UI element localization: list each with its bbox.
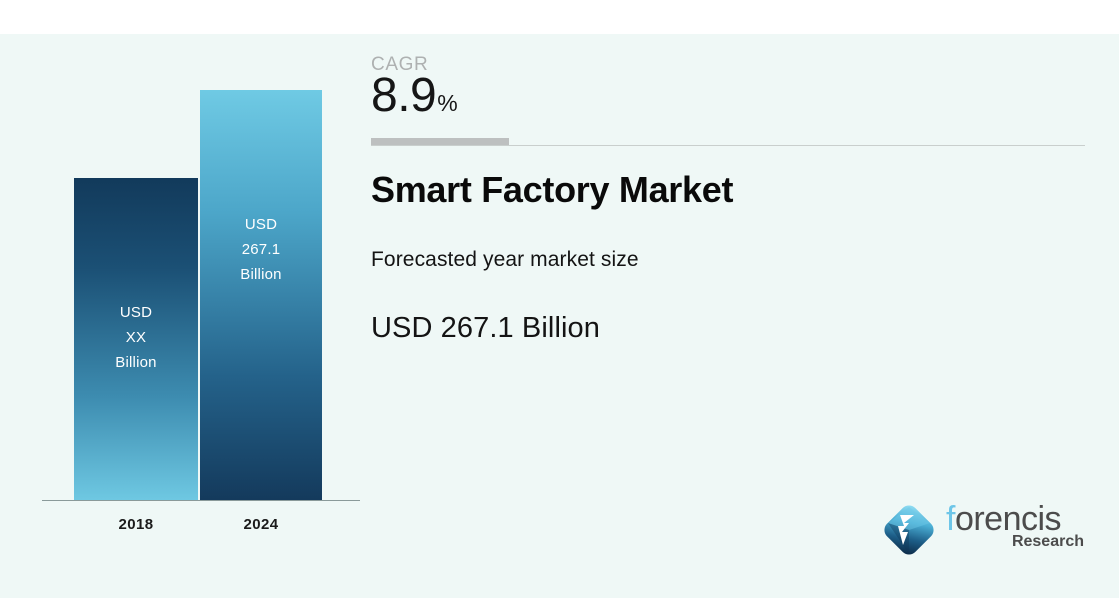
cagr-percent-symbol: % [437,92,457,115]
bar-2018[interactable]: USD XX Billion [74,178,198,500]
divider-accent-bar [371,138,509,145]
forencis-word-f: f [946,500,955,538]
x-axis-line [42,500,360,501]
bar-2024-label-line-3: Billion [200,262,322,287]
bar-chart: USD XX Billion USD 267.1 Billion 2018 20… [0,0,370,564]
forencis-diamond-icon [878,499,940,561]
bar-2018-label: USD XX Billion [74,300,198,375]
bar-2018-label-line-2: XX [74,325,198,350]
forencis-word: forencis [946,501,1086,537]
bar-2024-label-line-2: 267.1 [200,237,322,262]
cagr-value: 8.9 [371,72,436,120]
cagr-value-group: 8.9 % [371,72,458,120]
infographic-canvas: USD XX Billion USD 267.1 Billion 2018 20… [0,0,1119,598]
bar-2024-label: USD 267.1 Billion [200,212,322,287]
bar-2024[interactable]: USD 267.1 Billion [200,90,322,500]
bar-2018-label-line-3: Billion [74,350,198,375]
forecast-label: Forecasted year market size [371,248,639,272]
details-panel: CAGR 8.9 % Smart Factory Market Forecast… [371,0,1101,564]
bar-2018-label-line-1: USD [74,300,198,325]
forencis-research-logo[interactable]: forencis Research [878,497,1093,572]
x-axis-tick-2024: 2024 [200,516,322,533]
forencis-wordmark: forencis Research [946,501,1086,561]
bar-2024-label-line-1: USD [200,212,322,237]
x-axis-tick-2018: 2018 [74,516,198,533]
forecast-value: USD 267.1 Billion [371,312,600,345]
divider-rule [371,145,1085,146]
page-title: Smart Factory Market [371,169,733,211]
